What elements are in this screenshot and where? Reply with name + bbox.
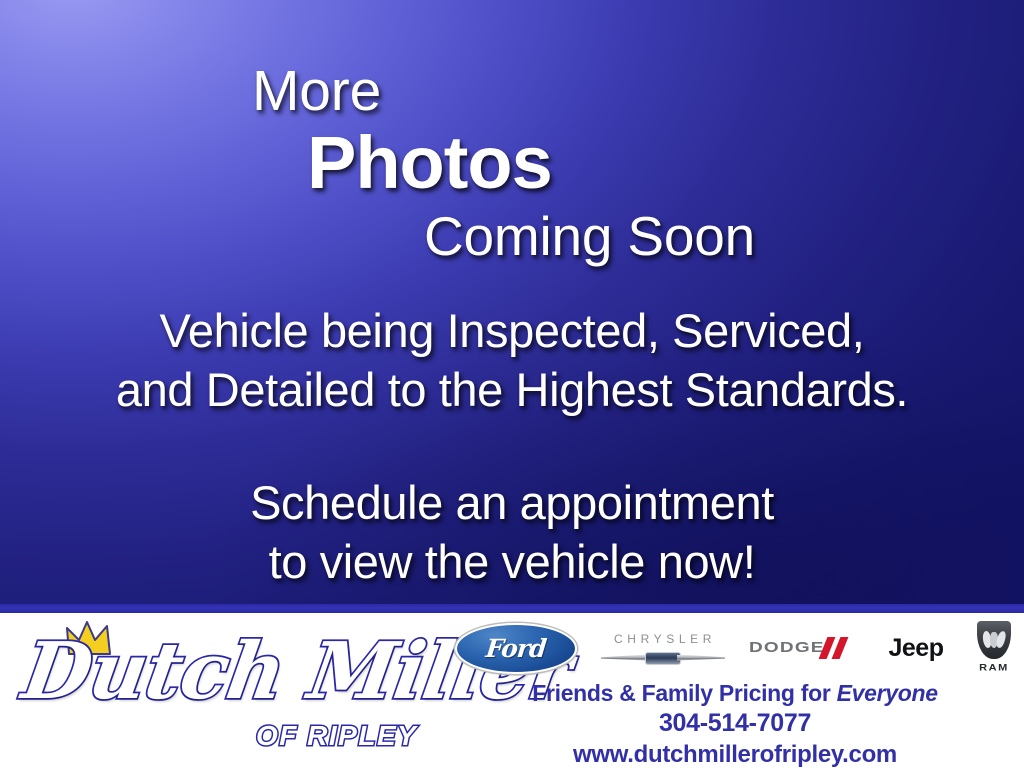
jeep-wordmark-logo: Jeep <box>885 631 947 665</box>
pricing-tagline-emphasis: Everyone <box>837 680 938 706</box>
dealer-footer: Dutch Miller OF RIPLEY Ford CHRYSLER DOD… <box>0 613 1024 768</box>
dealer-phone-number[interactable]: 304-514-7077 <box>455 708 1015 739</box>
appointment-message-line-1: Schedule an appointment <box>0 473 1024 532</box>
service-message-line-2: and Detailed to the Highest Standards. <box>0 360 1024 419</box>
headline-line-more: More <box>252 63 381 120</box>
dodge-stripes-logo: DODGE <box>749 633 861 663</box>
ford-wordmark: Ford <box>485 634 548 663</box>
dealer-logo-subtitle: OF RIPLEY <box>256 720 417 752</box>
service-message-line-1: Vehicle being Inspected, Serviced, <box>0 301 1024 360</box>
chrysler-wings-graphic <box>601 650 725 665</box>
dodge-stripes-graphic <box>821 637 851 659</box>
ford-oval-logo: Ford <box>455 623 577 674</box>
chrysler-badge <box>645 652 681 665</box>
footer-divider-bar <box>0 604 1024 613</box>
appointment-message: Schedule an appointment to view the vehi… <box>0 473 1024 591</box>
dealer-website-url[interactable]: www.dutchmillerofripley.com <box>455 739 1015 768</box>
headline-line-coming-soon: Coming Soon <box>424 209 755 264</box>
chrysler-wings-logo: CHRYSLER <box>601 626 725 670</box>
hero-background: More Photos Coming Soon Vehicle being In… <box>0 0 1024 605</box>
pricing-tagline: Friends & Family Pricing for Everyone <box>455 679 1015 708</box>
headline-line-photos: Photos <box>307 126 552 200</box>
pricing-tagline-prefix: Friends & Family Pricing for <box>532 680 836 706</box>
ram-head-icon <box>983 629 1005 651</box>
service-message: Vehicle being Inspected, Serviced, and D… <box>0 301 1024 419</box>
brand-logo-row: Ford CHRYSLER DODGE Jeep <box>455 619 1015 677</box>
dealer-contact-info: Friends & Family Pricing for Everyone 30… <box>455 679 1015 768</box>
jeep-wordmark: Jeep <box>889 634 944 663</box>
ram-shield-graphic <box>977 621 1011 659</box>
ram-wordmark: RAM <box>979 663 1009 673</box>
chrysler-wordmark: CHRYSLER <box>610 632 716 646</box>
ram-shield-logo: RAM <box>971 621 1017 675</box>
dealer-logo-script-name: Dutch Miller <box>18 633 440 711</box>
ram-face-shape <box>990 632 998 648</box>
appointment-message-line-2: to view the vehicle now! <box>0 532 1024 591</box>
coming-soon-placeholder-image: More Photos Coming Soon Vehicle being In… <box>0 0 1024 768</box>
dodge-wordmark: DODGE <box>749 639 825 656</box>
dealer-logo[interactable]: Dutch Miller OF RIPLEY <box>10 615 440 765</box>
